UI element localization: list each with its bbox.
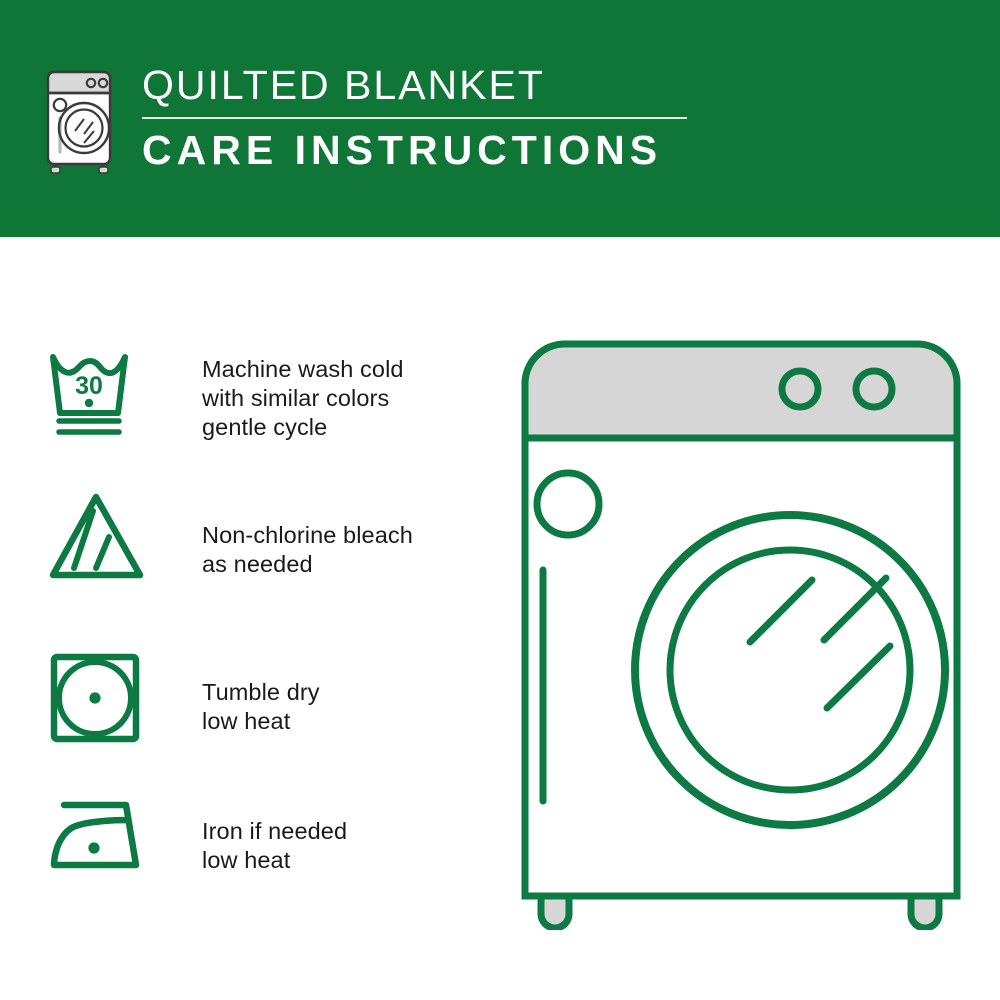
care-text-machine-wash: Machine wash cold with similar colors ge… bbox=[202, 353, 404, 442]
title-block: QUILTED BLANKET CARE INSTRUCTIONS bbox=[142, 62, 687, 173]
header-band: QUILTED BLANKET CARE INSTRUCTIONS bbox=[0, 0, 1000, 237]
care-row-tumble-dry: Tumble dry low heat bbox=[48, 650, 498, 746]
wash-tub-30-gentle-icon: 30 bbox=[48, 345, 148, 441]
care-row-iron: Iron if needed low heat bbox=[48, 795, 498, 875]
care-text-iron: Iron if needed low heat bbox=[202, 815, 347, 875]
washing-machine-logo-icon bbox=[44, 68, 118, 174]
page-title-primary: QUILTED BLANKET bbox=[142, 62, 687, 108]
iron-low-heat-icon bbox=[48, 795, 148, 875]
wash-temperature-label: 30 bbox=[75, 372, 103, 400]
header-content: QUILTED BLANKET CARE INSTRUCTIONS bbox=[44, 62, 687, 174]
page-title-secondary: CARE INSTRUCTIONS bbox=[142, 127, 687, 173]
care-instruction-list: 30 Machine wash cold with similar colors… bbox=[0, 237, 500, 1000]
machine-leg-right bbox=[911, 896, 939, 928]
tumble-dry-low-heat-icon bbox=[48, 650, 148, 746]
care-symbol-bleach bbox=[48, 489, 160, 585]
care-symbol-tumble-dry bbox=[48, 650, 160, 746]
care-symbol-iron bbox=[48, 795, 160, 875]
care-symbol-wash: 30 bbox=[48, 345, 160, 441]
front-load-washing-machine-illustration bbox=[500, 320, 980, 930]
title-divider bbox=[142, 117, 687, 119]
care-row-bleach: Non-chlorine bleach as needed bbox=[48, 489, 498, 585]
care-text-bleach: Non-chlorine bleach as needed bbox=[202, 519, 413, 579]
triangle-non-chlorine-bleach-icon bbox=[48, 489, 148, 585]
machine-leg-left bbox=[541, 896, 569, 928]
care-text-tumble-dry: Tumble dry low heat bbox=[202, 676, 320, 736]
care-row-machine-wash: 30 Machine wash cold with similar colors… bbox=[48, 345, 498, 442]
